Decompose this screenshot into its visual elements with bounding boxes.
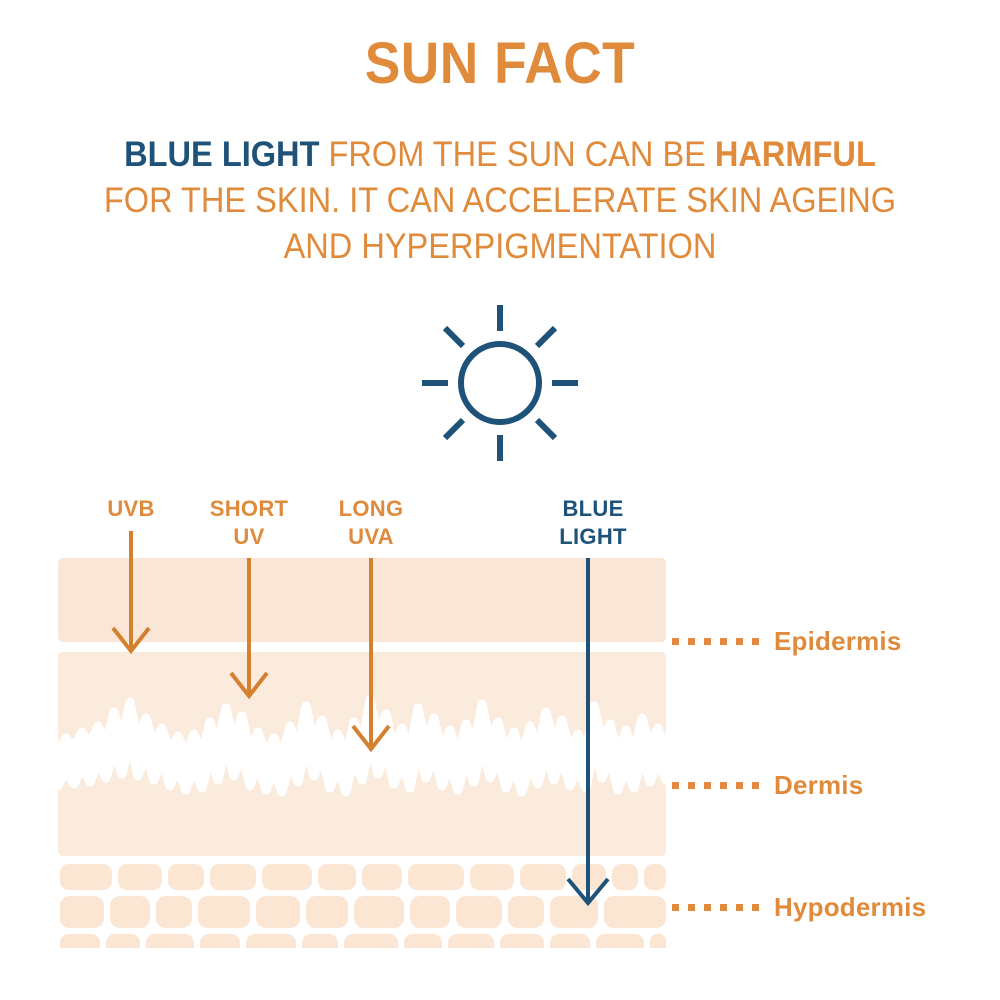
ray-label-blue-light-line1: BLUE [508, 495, 678, 523]
ray-label-long-uva-line2: UVA [310, 523, 432, 551]
subtitle-line-2: FOR THE SKIN. IT CAN ACCELERATE SKIN AGE… [82, 178, 919, 224]
ray-label-blue-light: BLUE LIGHT [508, 495, 678, 551]
subtitle-harmful-emphasis: HARMFUL [715, 135, 876, 174]
hypodermis-layer [60, 864, 666, 948]
callout-dermis: Dermis [672, 768, 863, 802]
callout-label-dermis: Dermis [774, 770, 863, 801]
subtitle-line-3: AND HYPERPIGMENTATION [82, 224, 919, 270]
subtitle-line-1-middle: FROM THE SUN CAN BE [319, 135, 714, 174]
subtitle-blue-light-emphasis: BLUE LIGHT [124, 135, 319, 174]
callout-label-hypodermis: Hypodermis [774, 892, 926, 923]
sun-ray-nw [445, 328, 463, 346]
subtitle-line-1: BLUE LIGHT FROM THE SUN CAN BE HARMFUL [82, 132, 919, 178]
callout-epidermis: Epidermis [672, 624, 902, 658]
ray-label-uvb-line1: UVB [72, 495, 190, 523]
ray-label-uvb: UVB [72, 495, 190, 523]
subtitle-block: BLUE LIGHT FROM THE SUN CAN BE HARMFUL F… [82, 132, 919, 270]
sun-ray-se [537, 420, 555, 438]
ray-label-long-uva-line1: LONG [310, 495, 432, 523]
leader-dots-hypodermis [672, 904, 760, 911]
sun-icon [412, 303, 588, 463]
ray-label-blue-light-line2: LIGHT [508, 523, 678, 551]
sun-ray-sw [445, 420, 463, 438]
ray-label-short-uv: SHORT UV [188, 495, 310, 551]
leader-dots-epidermis [672, 638, 760, 645]
callout-hypodermis: Hypodermis [672, 890, 926, 924]
ray-label-short-uv-line1: SHORT [188, 495, 310, 523]
skin-cross-section-diagram [58, 556, 666, 948]
page-title: SUN FACT [40, 34, 960, 95]
ray-label-long-uva: LONG UVA [310, 495, 432, 551]
ray-label-short-uv-line2: UV [188, 523, 310, 551]
sun-disc-outline [461, 344, 539, 422]
epidermis-layer [58, 558, 666, 642]
leader-dots-dermis [672, 782, 760, 789]
sun-ray-ne [537, 328, 555, 346]
infographic-poster: SUN FACT BLUE LIGHT FROM THE SUN CAN BE … [0, 0, 1000, 1000]
callout-label-epidermis: Epidermis [774, 626, 902, 657]
